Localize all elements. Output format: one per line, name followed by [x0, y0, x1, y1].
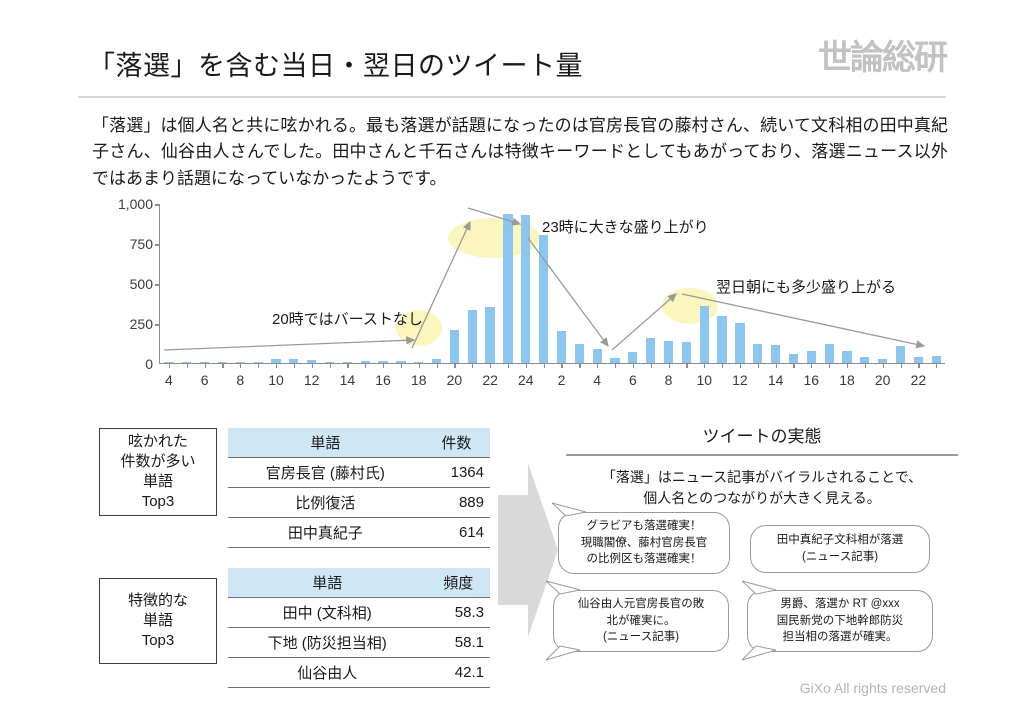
cell-value: 58.1 — [426, 628, 490, 658]
cell-word: 田中 (文科相) — [228, 598, 426, 628]
bubble-text-line: 国民新党の下地幹郎防災 — [777, 613, 904, 630]
x-tick-mark — [758, 363, 759, 368]
cell-value: 42.1 — [426, 658, 490, 688]
footer-credit: GiXo All rights reserved — [800, 680, 946, 696]
x-tick-mark — [294, 363, 295, 368]
x-tick-label: 16 — [804, 372, 820, 388]
bar — [503, 214, 512, 363]
group-label-line: 単語 — [120, 472, 195, 492]
x-tick-mark — [401, 363, 402, 368]
cell-word: 比例復活 — [228, 488, 423, 518]
y-tick-label: 500 — [130, 276, 153, 292]
bar — [932, 356, 941, 363]
x-tick-mark — [847, 363, 848, 368]
x-tick-mark — [187, 363, 188, 368]
bar-slot — [927, 204, 945, 363]
bubble-text-line: (ニュース記事) — [578, 629, 705, 646]
bar — [735, 323, 744, 363]
cell-value: 614 — [423, 518, 490, 548]
x-tick-label: 14 — [340, 372, 356, 388]
bar — [789, 354, 798, 363]
bubble-text-line: 男爵、落選か RT @xxx — [777, 596, 904, 613]
group-box-top-count-text: 呟かれた件数が多い単語Top3 — [120, 432, 195, 513]
x-tick-mark — [312, 363, 313, 368]
bar-slot: 6 — [196, 204, 214, 363]
group-label-line: 単語 — [128, 611, 188, 631]
annotation-label-1: 23時に大きな盛り上がり — [542, 216, 709, 237]
tweet-volume-chart: 02505007501,000 468101214161820222424681… — [96, 198, 948, 398]
bar — [557, 331, 566, 363]
x-tick-mark — [472, 363, 473, 368]
bar-slot: 20 — [446, 204, 464, 363]
bar — [771, 345, 780, 363]
table-row: 田中真紀子614 — [228, 518, 490, 548]
bar — [753, 344, 762, 363]
flow-arrow-icon — [498, 455, 558, 645]
x-tick-label: 10 — [268, 372, 284, 388]
bar-slot — [285, 204, 303, 363]
group-label-line: Top3 — [128, 631, 188, 651]
cell-word: 官房長官 (藤村氏) — [228, 458, 423, 488]
x-tick-label: 8 — [236, 372, 244, 388]
col-header-value: 件数 — [423, 428, 490, 458]
bar — [646, 338, 655, 363]
right-panel-title: ツイートの実態 — [566, 422, 958, 447]
x-tick-label: 16 — [375, 372, 391, 388]
bubble-text-line: 田中真紀子文科相が落選 — [777, 532, 904, 549]
right-panel-divider — [566, 454, 958, 456]
x-tick-mark — [437, 363, 438, 368]
x-tick-mark — [276, 363, 277, 368]
bubble-text-line: (ニュース記事) — [777, 549, 904, 566]
page-title: 「落選」を含む当日・翌日のツイート量 — [88, 44, 583, 83]
x-tick-mark — [222, 363, 223, 368]
bar — [842, 351, 851, 363]
x-tick-mark — [561, 363, 562, 368]
x-tick-mark — [383, 363, 384, 368]
x-tick-label: 22 — [911, 372, 927, 388]
bar — [539, 235, 548, 363]
table-row: 下地 (防災担当相)58.1 — [228, 628, 490, 658]
bar-slot: 8 — [231, 204, 249, 363]
cell-value: 1364 — [423, 458, 490, 488]
x-tick-label: 12 — [304, 372, 320, 388]
cell-value: 58.3 — [426, 598, 490, 628]
bar-slot — [499, 204, 517, 363]
x-tick-label: 10 — [696, 372, 712, 388]
tweet-bubble-0: グラビアも落選確実！現職閣僚、藤村官房長官の比例区も落選確実！ — [558, 512, 730, 574]
x-tick-label: 14 — [768, 372, 784, 388]
bar-slot — [356, 204, 374, 363]
cell-value: 889 — [423, 488, 490, 518]
y-tick-label: 1,000 — [118, 196, 153, 212]
x-tick-mark — [704, 363, 705, 368]
x-tick-mark — [883, 363, 884, 368]
bar — [485, 307, 494, 363]
bubble-text-line: 現職閣僚、藤村官房長官 — [581, 535, 708, 552]
group-box-top-count: 呟かれた件数が多い単語Top3 — [99, 428, 217, 516]
x-tick-label: 18 — [411, 372, 427, 388]
table-header-row: 単語 頻度 — [228, 568, 490, 598]
x-tick-mark — [544, 363, 545, 368]
bar-slot — [392, 204, 410, 363]
group-box-distinctive: 特徴的な単語Top3 — [99, 578, 217, 664]
bar — [468, 310, 477, 363]
tweet-bubble-2: 仙谷由人元官房長官の敗北が確実に。(ニュース記事) — [553, 590, 729, 652]
annotation-label-2: 翌日朝にも多少盛り上がる — [716, 276, 896, 297]
bar — [575, 344, 584, 363]
x-tick-mark — [508, 363, 509, 368]
bar — [717, 316, 726, 363]
bar-slot: 12 — [303, 204, 321, 363]
y-tick-label: 0 — [145, 356, 153, 372]
x-tick-mark — [205, 363, 206, 368]
x-tick-mark — [865, 363, 866, 368]
x-tick-mark — [936, 363, 937, 368]
table-row: 仙谷由人42.1 — [228, 658, 490, 688]
tweet-reality-panel: ツイートの実態 「落選」はニュース記事がバイラルされることで、個人名とのつながり… — [566, 422, 958, 510]
bar — [700, 306, 709, 363]
x-tick-mark — [419, 363, 420, 368]
x-tick-mark — [811, 363, 812, 368]
tweet-bubble-1: 田中真紀子文科相が落選(ニュース記事) — [750, 525, 930, 573]
bar-slot: 18 — [410, 204, 428, 363]
table-row: 田中 (文科相)58.3 — [228, 598, 490, 628]
x-tick-mark — [365, 363, 366, 368]
x-tick-mark — [776, 363, 777, 368]
bubble-text-line: の比例区も落選確実！ — [581, 551, 708, 568]
x-tick-label: 20 — [875, 372, 891, 388]
cell-word: 田中真紀子 — [228, 518, 423, 548]
bar-slot — [321, 204, 339, 363]
bar-slot: 22 — [481, 204, 499, 363]
table-header-row: 単語 件数 — [228, 428, 490, 458]
x-tick-mark — [169, 363, 170, 368]
x-tick-mark — [740, 363, 741, 368]
bar — [896, 346, 905, 363]
x-tick-mark — [347, 363, 348, 368]
title-divider — [78, 96, 946, 98]
x-tick-label: 24 — [518, 372, 534, 388]
bar — [521, 215, 530, 363]
bar-slot — [463, 204, 481, 363]
x-tick-label: 6 — [629, 372, 637, 388]
x-tick-mark — [829, 363, 830, 368]
bar — [807, 351, 816, 363]
group-label-line: Top3 — [120, 492, 195, 512]
col-header-word: 単語 — [228, 428, 423, 458]
x-tick-label: 6 — [201, 372, 209, 388]
group-label-line: 特徴的な — [128, 591, 188, 611]
bar-slot: 22 — [909, 204, 927, 363]
x-tick-mark — [258, 363, 259, 368]
x-tick-mark — [454, 363, 455, 368]
col-header-word: 単語 — [228, 568, 426, 598]
tweet-bubble-3: 男爵、落選か RT @xxx国民新党の下地幹郎防災担当相の落選が確実。 — [747, 590, 933, 652]
x-tick-mark — [901, 363, 902, 368]
x-tick-label: 4 — [165, 372, 173, 388]
x-tick-mark — [597, 363, 598, 368]
group-box-distinctive-text: 特徴的な単語Top3 — [128, 591, 188, 652]
bar-slot: 4 — [160, 204, 178, 363]
bar — [593, 349, 602, 363]
y-tick-label: 250 — [130, 316, 153, 332]
bar-slot — [249, 204, 267, 363]
x-tick-label: 12 — [732, 372, 748, 388]
bubble-text-line: 仙谷由人元官房長官の敗 — [578, 596, 705, 613]
y-tick-label: 750 — [130, 236, 153, 252]
x-tick-label: 18 — [839, 372, 855, 388]
lead-paragraph: 「落選」は個人名と共に呟かれる。最も落選が話題になったのは官房長官の藤村さん、続… — [92, 113, 948, 192]
right-panel-summary: 「落選」はニュース記事がバイラルされることで、個人名とのつながりが大きく見える。 — [566, 467, 958, 510]
x-tick-mark — [633, 363, 634, 368]
x-tick-mark — [579, 363, 580, 368]
bar-slot: 24 — [517, 204, 535, 363]
x-tick-mark — [330, 363, 331, 368]
bubble-text-line: 担当相の落選が確実。 — [777, 629, 904, 646]
x-tick-label: 2 — [558, 372, 566, 388]
x-tick-mark — [240, 363, 241, 368]
x-tick-label: 4 — [593, 372, 601, 388]
x-tick-label: 20 — [447, 372, 463, 388]
table-distinctive: 単語 頻度 田中 (文科相)58.3下地 (防災担当相)58.1仙谷由人42.1 — [228, 568, 490, 688]
bar — [664, 341, 673, 363]
x-tick-mark — [651, 363, 652, 368]
bar-slot: 10 — [267, 204, 285, 363]
summary-line: 個人名とのつながりが大きく見える。 — [566, 488, 958, 510]
bar-slot: 16 — [374, 204, 392, 363]
bar-slot — [214, 204, 232, 363]
x-tick-mark — [918, 363, 919, 368]
bar-slot — [428, 204, 446, 363]
bubble-text-line: グラビアも落選確実！ — [581, 518, 708, 535]
table-row: 比例復活889 — [228, 488, 490, 518]
x-tick-mark — [669, 363, 670, 368]
group-label-line: 件数が多い — [120, 452, 195, 472]
x-tick-label: 8 — [665, 372, 673, 388]
x-tick-mark — [722, 363, 723, 368]
bar — [682, 342, 691, 363]
annotation-label-0: 20時ではバーストなし — [272, 308, 423, 329]
brand-logo: 世論総研 — [818, 30, 946, 79]
bar — [450, 330, 459, 363]
x-tick-label: 22 — [482, 372, 498, 388]
group-label-line: 呟かれた — [120, 432, 195, 452]
x-tick-mark — [490, 363, 491, 368]
bar-slot — [178, 204, 196, 363]
x-tick-mark — [526, 363, 527, 368]
table-top-count: 単語 件数 官房長官 (藤村氏)1364比例復活889田中真紀子614 — [228, 428, 490, 548]
bar — [825, 344, 834, 363]
bar — [628, 352, 637, 363]
x-tick-mark — [615, 363, 616, 368]
col-header-value: 頻度 — [426, 568, 490, 598]
bubble-text-line: 北が確実に。 — [578, 613, 705, 630]
cell-word: 仙谷由人 — [228, 658, 426, 688]
bar-slot: 14 — [338, 204, 356, 363]
summary-line: 「落選」はニュース記事がバイラルされることで、 — [566, 467, 958, 489]
cell-word: 下地 (防災担当相) — [228, 628, 426, 658]
x-tick-mark — [793, 363, 794, 368]
x-tick-mark — [686, 363, 687, 368]
table-row: 官房長官 (藤村氏)1364 — [228, 458, 490, 488]
